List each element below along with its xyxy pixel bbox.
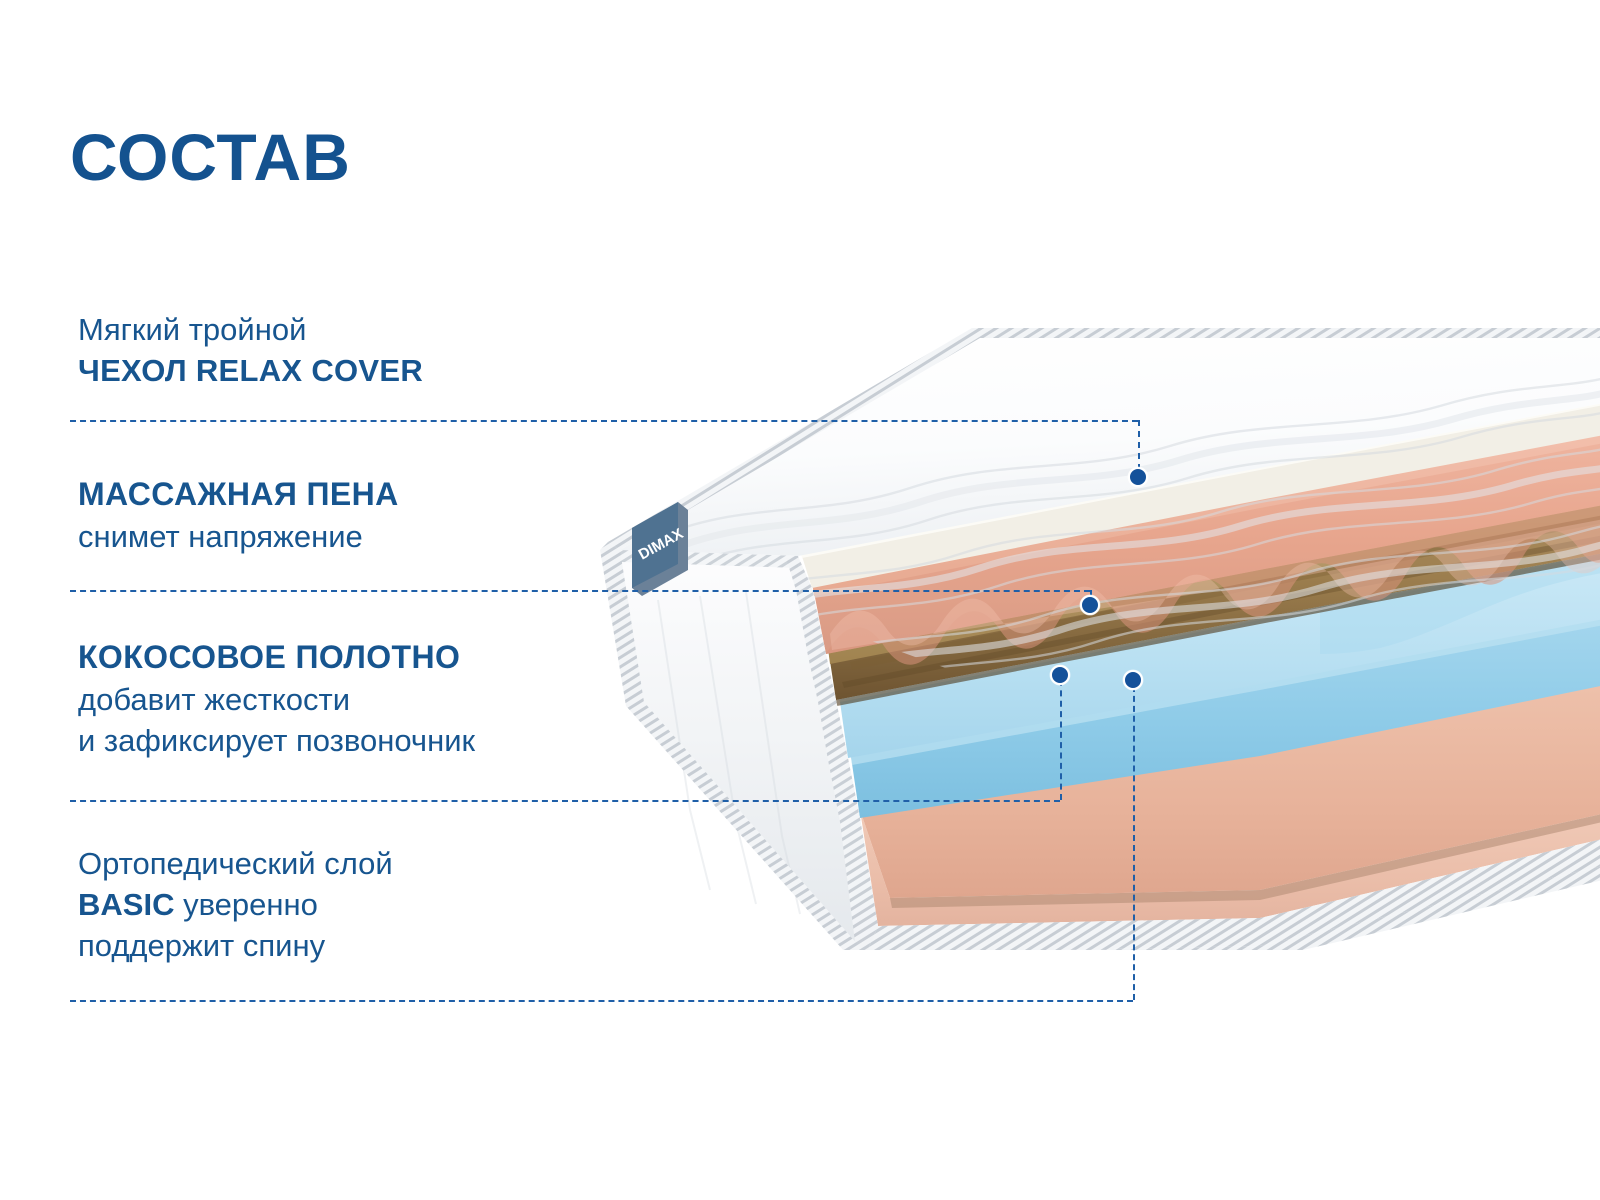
- label-basic-line-2: BASIC уверенно: [78, 884, 393, 925]
- connector-dot-coir: [1050, 665, 1070, 685]
- label-basic-bold-word: BASIC: [78, 887, 174, 922]
- connector-line-cover-vertical: [1138, 420, 1140, 470]
- composition-infographic: DIMAX СОСТАВ Мягкий тройной ЧЕХОЛ RELAX …: [0, 0, 1600, 1200]
- label-soft-triple-cover: Мягкий тройной ЧЕХОЛ RELAX COVER: [78, 309, 423, 391]
- label-basic-line-3: поддержит спину: [78, 925, 393, 966]
- label-orthopedic-basic: Ортопедический слой BASIC уверенно подде…: [78, 843, 393, 967]
- connector-line-cover-horizontal: [70, 420, 1138, 422]
- top-far-edge-tape: [972, 328, 1600, 338]
- label-cover-line-2: ЧЕХОЛ RELAX COVER: [78, 350, 423, 391]
- label-basic-rest: уверенно: [174, 887, 317, 922]
- connector-line-foam-horizontal: [70, 590, 1090, 592]
- label-massage-foam: МАССАЖНАЯ ПЕНА снимет напряжение: [78, 473, 399, 557]
- label-foam-line-1: МАССАЖНАЯ ПЕНА: [78, 473, 399, 516]
- label-coir-line-3: и зафиксирует позвоночник: [78, 720, 475, 761]
- connector-line-coir-horizontal: [70, 800, 1060, 802]
- page-title: СОСТАВ: [70, 124, 351, 190]
- label-coir-line-1: КОКОСОВОЕ ПОЛОТНО: [78, 636, 475, 679]
- connector-dot-cover: [1128, 467, 1148, 487]
- label-basic-line-1: Ортопедический слой: [78, 843, 393, 884]
- connector-line-coir-vertical: [1060, 680, 1062, 800]
- connector-line-basic-vertical: [1133, 686, 1135, 1000]
- connector-line-basic-horizontal: [70, 1000, 1133, 1002]
- label-foam-line-2: снимет напряжение: [78, 516, 399, 557]
- label-cover-line-1: Мягкий тройной: [78, 309, 423, 350]
- label-coir-line-2: добавит жесткости: [78, 679, 475, 720]
- connector-dot-basic: [1123, 670, 1143, 690]
- label-coconut-coir: КОКОСОВОЕ ПОЛОТНО добавит жесткости и за…: [78, 636, 475, 761]
- connector-dot-foam: [1080, 595, 1100, 615]
